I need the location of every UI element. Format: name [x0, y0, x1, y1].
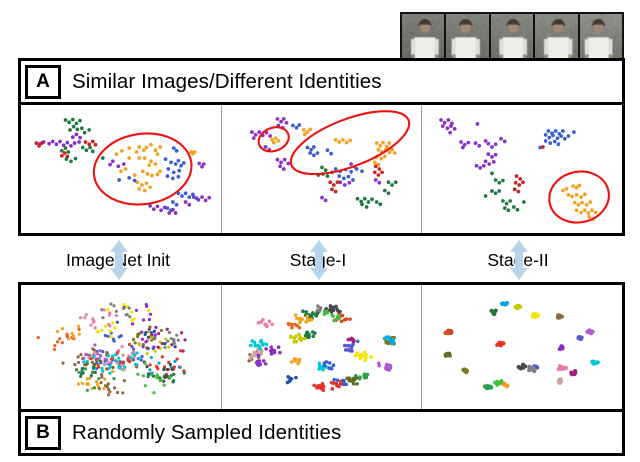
scatter-canvas — [21, 285, 221, 409]
panel-a-plot-stage-i — [222, 105, 423, 233]
scatter-canvas — [222, 105, 422, 233]
panel-b-title: Randomly Sampled Identities — [72, 421, 341, 445]
panel-b-plot-imagenet-init — [21, 285, 222, 409]
panel-a-tag: A — [25, 65, 61, 99]
panel-a-plot-imagenet-init — [21, 105, 222, 233]
panel-b-header: B Randomly Sampled Identities — [21, 409, 622, 453]
stage-label-row: ImageNet Init Stage-I Stage-II — [18, 238, 625, 282]
scatter-canvas — [222, 285, 422, 409]
double-headed-vertical-arrow-icon — [308, 239, 330, 281]
panel-a-plot-stage-ii — [422, 105, 622, 233]
double-headed-vertical-arrow-icon — [108, 239, 130, 281]
figure-root: A Similar Images/Different Identities Im… — [0, 0, 640, 462]
panel-a-header: A Similar Images/Different Identities — [21, 61, 622, 105]
panel-b-plot-stage-i — [222, 285, 423, 409]
panel-b-plot-stage-ii — [422, 285, 622, 409]
panel-a-plot-row — [21, 105, 622, 233]
panel-b: B Randomly Sampled Identities — [18, 282, 625, 456]
panel-b-tag: B — [25, 416, 61, 450]
scatter-canvas — [21, 105, 221, 233]
double-headed-vertical-arrow-icon — [508, 239, 530, 281]
scatter-canvas — [422, 105, 622, 233]
scatter-canvas — [422, 285, 622, 409]
panel-b-plot-row — [21, 285, 622, 409]
panel-a-title: Similar Images/Different Identities — [72, 70, 382, 94]
panel-a: A Similar Images/Different Identities — [18, 58, 625, 236]
